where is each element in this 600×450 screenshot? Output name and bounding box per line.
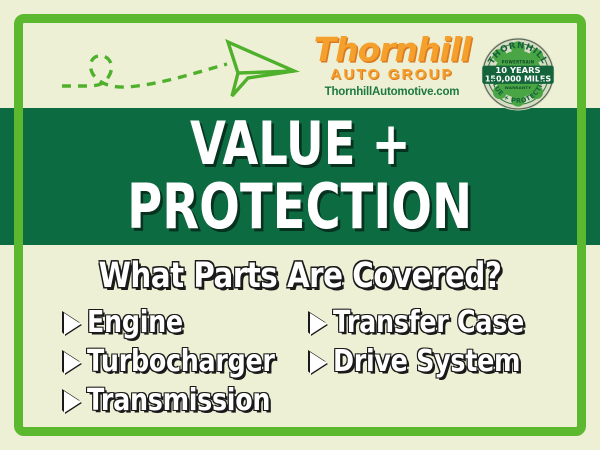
headline-line-2: PROTECTION xyxy=(127,174,472,240)
list-item: Drive System xyxy=(310,342,536,381)
list-item: Transmission xyxy=(64,381,287,420)
website-url: ThornhillAutomotive.com xyxy=(312,86,472,99)
part-label: Engine xyxy=(87,306,183,340)
parts-column-right: Transfer Case Drive System xyxy=(310,303,536,381)
part-label: Transfer Case xyxy=(333,306,524,340)
dashed-loop-path-icon xyxy=(62,26,302,106)
logo-subtitle: AUTO GROUP xyxy=(312,66,472,83)
seal-icon: THORNHILL POWERTRAIN 10 YEARS 150,000 MI… xyxy=(480,36,556,112)
header-section: Thornhill AUTO GROUP ThornhillAutomotive… xyxy=(0,14,600,108)
advertisement-banner: Thornhill AUTO GROUP ThornhillAutomotive… xyxy=(0,0,600,450)
warranty-seal-badge: THORNHILL POWERTRAIN 10 YEARS 150,000 MI… xyxy=(480,36,556,112)
headline-line-1: VALUE + xyxy=(190,114,411,174)
subheading: What Parts Are Covered? xyxy=(21,255,579,297)
list-item: Turbocharger xyxy=(64,342,287,381)
parts-column-left: Engine Turbocharger Transmission xyxy=(64,303,287,420)
svg-text:10 YEARS: 10 YEARS xyxy=(495,65,540,75)
triangle-bullet-icon xyxy=(64,313,81,335)
list-item: Transfer Case xyxy=(310,303,536,342)
triangle-bullet-icon xyxy=(310,352,327,374)
paper-plane-arrow-icon xyxy=(228,42,294,96)
part-label: Transmission xyxy=(87,384,270,418)
part-label: Drive System xyxy=(333,345,520,379)
covered-parts-section: What Parts Are Covered? Engine Turbochar… xyxy=(0,245,600,435)
triangle-bullet-icon xyxy=(64,352,81,374)
flight-path-decoration xyxy=(62,26,302,106)
thornhill-logo: Thornhill AUTO GROUP ThornhillAutomotive… xyxy=(312,34,472,99)
triangle-bullet-icon xyxy=(310,313,327,335)
list-item: Engine xyxy=(64,303,287,342)
svg-text:WARRANTY: WARRANTY xyxy=(505,85,532,90)
triangle-bullet-icon xyxy=(64,391,81,413)
part-label: Turbocharger xyxy=(87,345,275,379)
logo-wordmark: Thornhill xyxy=(312,34,472,65)
svg-text:POWERTRAIN: POWERTRAIN xyxy=(502,59,535,64)
headline-text-group: VALUE + PROTECTION xyxy=(0,108,600,245)
